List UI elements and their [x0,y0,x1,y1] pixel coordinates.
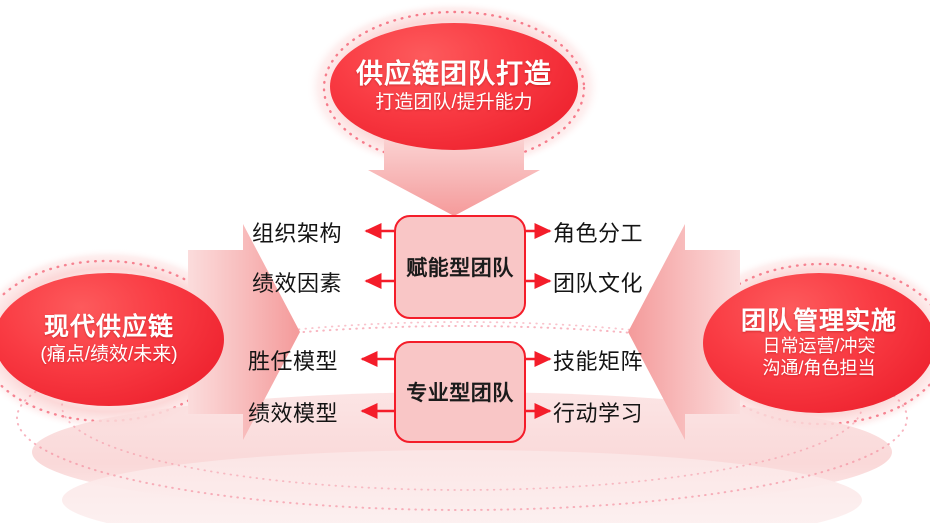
center-box-enabling-team[interactable]: 赋能型团队 [394,215,526,319]
center-box-professional-team-label: 专业型团队 [406,377,514,407]
base-ellipse-inner [62,450,862,523]
bubble-right-title: 团队管理实施 [741,308,897,334]
bubble-right[interactable]: 团队管理实施 日常运营/冲突 沟通/角色担当 [703,273,930,413]
bubble-right-subtitle-line1: 日常运营/冲突 [762,336,875,356]
diagram-canvas: 供应链团队打造 打造团队/提升能力 现代供应链 (痛点/绩效/未来) 团队管理实… [0,0,930,523]
leaf-label-competency-model: 胜任模型 [248,344,338,376]
leaf-label-action-learning: 行动学习 [553,396,643,428]
center-box-enabling-team-label: 赋能型团队 [406,252,514,282]
bubble-top[interactable]: 供应链团队打造 打造团队/提升能力 [330,23,578,150]
bubble-top-title: 供应链团队打造 [356,60,552,88]
leaf-label-org-structure: 组织架构 [252,216,342,248]
center-box-professional-team[interactable]: 专业型团队 [394,341,526,443]
leaf-label-team-culture: 团队文化 [553,266,643,298]
leaf-label-performance-factors: 绩效因素 [252,266,342,298]
bubble-right-subtitle-line2: 沟通/角色担当 [762,358,875,378]
bubble-left[interactable]: 现代供应链 (痛点/绩效/未来) [0,273,224,406]
leaf-label-skill-matrix: 技能矩阵 [553,344,643,376]
leaf-label-role-division: 角色分工 [553,216,643,248]
bubble-left-subtitle: (痛点/绩效/未来) [40,344,177,365]
leaf-label-performance-model: 绩效模型 [248,396,338,428]
bubble-top-subtitle: 打造团队/提升能力 [375,92,532,113]
bubble-left-title: 现代供应链 [44,314,174,340]
